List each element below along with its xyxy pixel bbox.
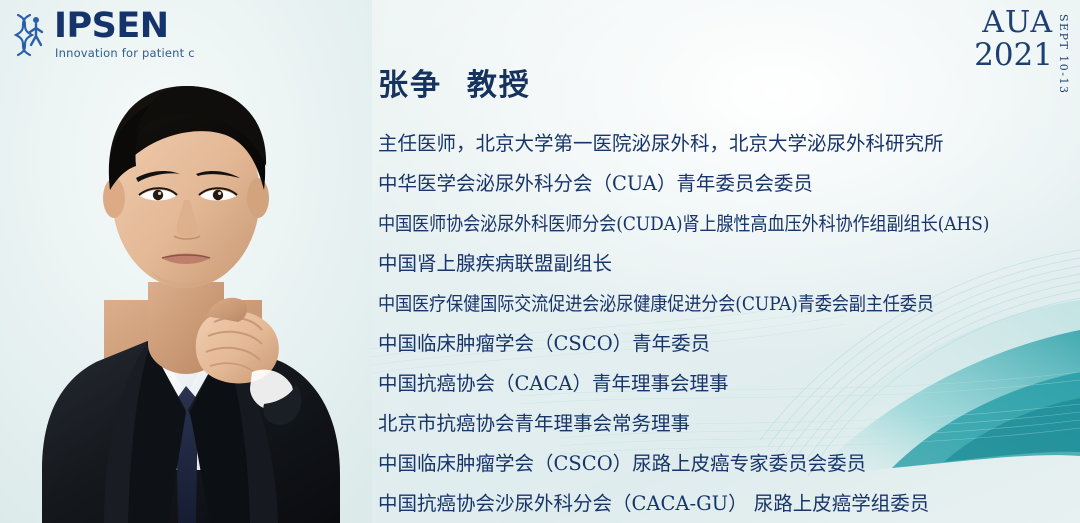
list-item: 中国肾上腺疾病联盟副组长: [378, 244, 1070, 284]
ipsen-tagline: Innovation for patient c: [55, 46, 195, 60]
conference-dates: SEPT 10-13: [1057, 14, 1070, 95]
dna-helix-figure-icon: [10, 11, 50, 57]
list-item: 中国抗癌协会沙尿外科分会（CACA-GU） 尿路上皮癌学组委员: [378, 484, 1070, 523]
conference-badge: AUA 2021 SEPT 10-13: [974, 8, 1070, 95]
slide-root: IPSEN Innovation for patient c AUA 2021 …: [0, 0, 1080, 523]
list-item: 主任医师，北京大学第一医院泌尿外科，北京大学泌尿外科研究所: [378, 124, 1070, 164]
list-item: 中国医疗保健国际交流促进会泌尿健康促进分会(CUPA)青委会副主任委员: [378, 284, 1004, 324]
ipsen-wordmark: IPSEN: [54, 10, 195, 43]
bio-list: 主任医师，北京大学第一医院泌尿外科，北京大学泌尿外科研究所 中华医学会泌尿外科分…: [378, 124, 1070, 523]
speaker-portrait: [0, 0, 372, 523]
conference-name: AUA: [974, 8, 1053, 38]
list-item: 中国医师协会泌尿外科医师分会(CUDA)肾上腺性高血压外科协作组副组长(AHS): [378, 204, 1004, 244]
list-item: 北京市抗癌协会青年理事会常务理事: [378, 404, 1070, 444]
list-item: 中华医学会泌尿外科分会（CUA）青年委员会委员: [378, 164, 1070, 204]
list-item: 中国临床肿瘤学会（CSCO）青年委员: [378, 324, 1070, 364]
page-title: 张争 教授: [378, 60, 1070, 104]
list-item: 中国抗癌协会（CACA）青年理事会理事: [378, 364, 1070, 404]
conference-name-year: AUA 2021: [974, 8, 1053, 71]
conference-year: 2021: [974, 40, 1053, 71]
speaker-info: 张争 教授 主任医师，北京大学第一医院泌尿外科，北京大学泌尿外科研究所 中华医学…: [378, 60, 1070, 523]
list-item: 中国临床肿瘤学会（CSCO）尿路上皮癌专家委员会委员: [378, 444, 1070, 484]
ipsen-logo: IPSEN Innovation for patient c: [10, 10, 195, 60]
